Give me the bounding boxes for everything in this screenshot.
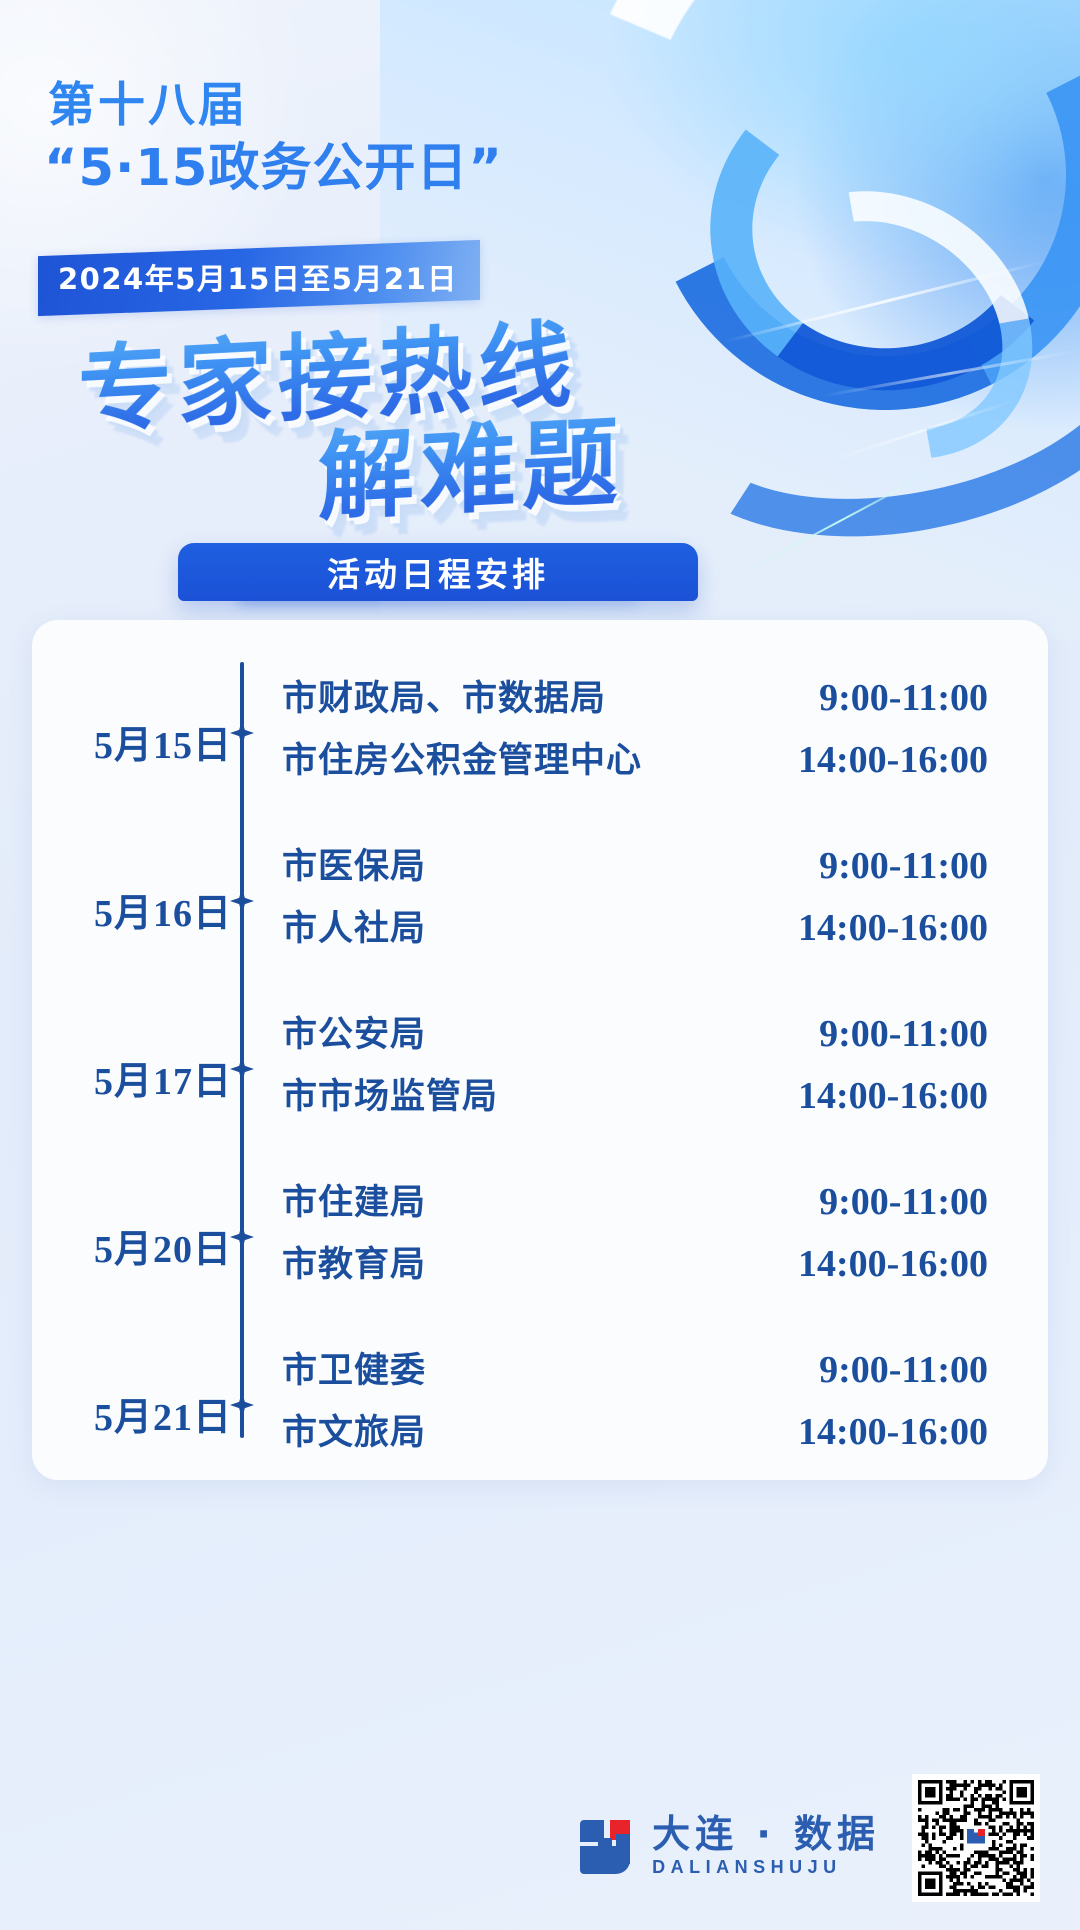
schedule-entry-org: 市医保局 — [282, 838, 642, 889]
schedule-entry-org: 市住建局 — [282, 1174, 642, 1225]
brand-lockup: 大连 · 数据 DALIANSHUJU — [580, 1815, 880, 1878]
schedule-entry-org: 市市场监管局 — [282, 1068, 642, 1119]
brand-text: 大连 · 数据 DALIANSHUJU — [652, 1815, 880, 1878]
schedule-entry-time: 14:00-16:00 — [642, 1410, 1042, 1454]
schedule-entry-org: 市教育局 — [282, 1236, 642, 1287]
ribbon-highlight-2 — [822, 349, 1079, 397]
schedule-entry: 市市场监管局14:00-16:00 — [282, 1068, 1042, 1130]
schedule-entry: 市医保局9:00-11:00 — [282, 838, 1042, 900]
schedule-card: 5月15日市财政局、市数据局9:00-11:00市住房公积金管理中心14:00-… — [32, 620, 1048, 1480]
schedule-rows: 5月15日市财政局、市数据局9:00-11:00市住房公积金管理中心14:00-… — [32, 620, 1048, 1480]
qr-code-image — [918, 1780, 1034, 1896]
schedule-entry-time: 9:00-11:00 — [642, 676, 1042, 720]
timeline-star-marker-icon — [230, 1056, 254, 1082]
logo-shape-base — [580, 1846, 630, 1874]
brand-name-cn: 大连 · 数据 — [652, 1815, 880, 1855]
schedule-row: 5月16日市医保局9:00-11:00市人社局14:00-16:00 — [32, 838, 1048, 962]
ribbon-glow-streak — [734, 464, 947, 578]
schedule-entry-org: 市公安局 — [282, 1006, 642, 1057]
schedule-row-date: 5月20日 — [32, 1218, 232, 1273]
date-range-text: 2024年5月15日至5月21日 — [58, 256, 458, 298]
schedule-entry-time: 14:00-16:00 — [642, 1242, 1042, 1286]
ribbon-arc-5 — [624, 179, 1080, 581]
schedule-row: 5月20日市住建局9:00-11:00市教育局14:00-16:00 — [32, 1174, 1048, 1298]
ribbon-arc-2 — [589, 0, 1080, 471]
schedule-row: 5月17日市公安局9:00-11:00市市场监管局14:00-16:00 — [32, 1006, 1048, 1130]
ribbon-arc-4 — [695, 137, 1080, 514]
schedule-entry-org: 市卫健委 — [282, 1342, 642, 1393]
schedule-row-date: 5月16日 — [32, 882, 232, 937]
timeline-star-marker-icon — [230, 720, 254, 746]
schedule-entry: 市教育局14:00-16:00 — [282, 1236, 1042, 1298]
schedule-entry-org: 市财政局、市数据局 — [282, 670, 642, 721]
qr-code[interactable] — [912, 1774, 1040, 1902]
brand-name-en: DALIANSHUJU — [652, 1857, 880, 1878]
schedule-row-entries: 市住建局9:00-11:00市教育局14:00-16:00 — [282, 1174, 1042, 1298]
schedule-entry-org: 市住房公积金管理中心 — [282, 732, 642, 783]
ribbon-highlight-3 — [824, 399, 1015, 464]
timeline-star-marker-icon — [230, 1392, 254, 1418]
schedule-entry-org: 市文旅局 — [282, 1404, 642, 1455]
schedule-entry: 市公安局9:00-11:00 — [282, 1006, 1042, 1068]
schedule-entry-time: 14:00-16:00 — [642, 1074, 1042, 1118]
schedule-row: 5月15日市财政局、市数据局9:00-11:00市住房公积金管理中心14:00-… — [32, 670, 1048, 794]
schedule-entry: 市住房公积金管理中心14:00-16:00 — [282, 732, 1042, 794]
poster-footer: 大连 · 数据 DALIANSHUJU — [0, 1740, 1080, 1930]
section-title-banner: 活动日程安排 — [178, 543, 698, 601]
ribbon-arc-3 — [689, 37, 1080, 414]
ribbon-highlight-1 — [725, 260, 1046, 343]
logo-shape-bridge — [598, 1838, 612, 1846]
kicker-line-1: 第十八届 — [48, 66, 248, 135]
schedule-row-entries: 市卫健委9:00-11:00市文旅局14:00-16:00 — [282, 1342, 1042, 1466]
section-title-text: 活动日程安排 — [327, 548, 549, 596]
dalian-data-logo-icon — [580, 1820, 636, 1874]
schedule-row-entries: 市医保局9:00-11:00市人社局14:00-16:00 — [282, 838, 1042, 962]
schedule-entry-time: 9:00-11:00 — [642, 1348, 1042, 1392]
headline-line-2: 解难题 — [318, 384, 624, 539]
schedule-row-date: 5月21日 — [32, 1386, 232, 1441]
schedule-entry-time: 14:00-16:00 — [642, 738, 1042, 782]
timeline-star-marker-icon — [230, 888, 254, 914]
schedule-row-date: 5月15日 — [32, 714, 232, 769]
schedule-row-date: 5月17日 — [32, 1050, 232, 1105]
schedule-row-entries: 市公安局9:00-11:00市市场监管局14:00-16:00 — [282, 1006, 1042, 1130]
schedule-entry-time: 9:00-11:00 — [642, 1012, 1042, 1056]
schedule-entry-time: 9:00-11:00 — [642, 844, 1042, 888]
schedule-row: 5月21日市卫健委9:00-11:00市文旅局14:00-16:00 — [32, 1342, 1048, 1466]
schedule-row-entries: 市财政局、市数据局9:00-11:00市住房公积金管理中心14:00-16:00 — [282, 670, 1042, 794]
timeline-star-marker-icon — [230, 1224, 254, 1250]
schedule-entry: 市卫健委9:00-11:00 — [282, 1342, 1042, 1404]
schedule-entry-time: 14:00-16:00 — [642, 906, 1042, 950]
schedule-entry-time: 9:00-11:00 — [642, 1180, 1042, 1224]
kicker-line-2: “5·15政务公开日” — [44, 126, 503, 200]
schedule-entry: 市文旅局14:00-16:00 — [282, 1404, 1042, 1466]
schedule-entry: 市人社局14:00-16:00 — [282, 900, 1042, 962]
schedule-entry-org: 市人社局 — [282, 900, 642, 951]
schedule-entry: 市财政局、市数据局9:00-11:00 — [282, 670, 1042, 732]
schedule-entry: 市住建局9:00-11:00 — [282, 1174, 1042, 1236]
